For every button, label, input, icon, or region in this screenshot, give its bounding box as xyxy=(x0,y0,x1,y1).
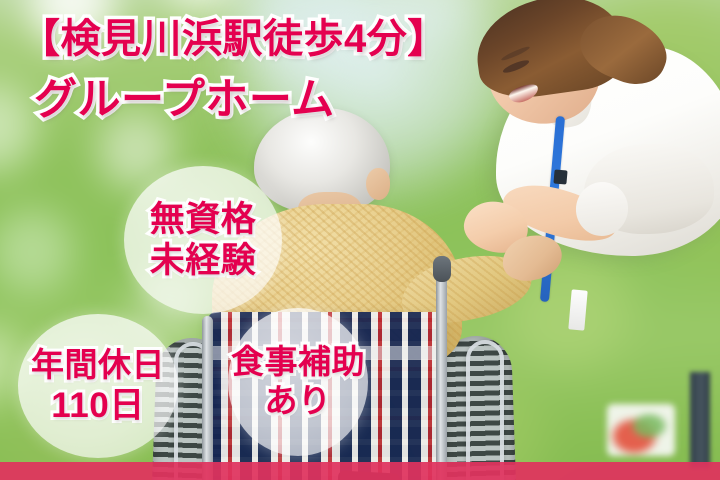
badge-qualification-line1: 無資格 xyxy=(150,199,257,240)
elderly-person-ear xyxy=(366,168,390,200)
headline-station-access: 【検見川浜駅徒歩4分】 xyxy=(20,18,448,60)
badge-annual-holidays: 年間休日 110日 xyxy=(18,314,178,458)
badge-holidays-line2: 110日 xyxy=(51,385,144,426)
badge-qualification: 無資格 未経験 xyxy=(124,166,282,314)
badge-qualification-line2: 未経験 xyxy=(150,240,257,281)
wheelchair-handrim-right xyxy=(466,340,504,480)
background-pole xyxy=(690,372,710,468)
wheelchair-frame-post-left xyxy=(202,316,213,480)
badge-meal-line2: あり xyxy=(265,382,332,421)
headline-facility-type: グループホーム xyxy=(34,78,448,124)
bottom-accent-band xyxy=(0,462,720,480)
wheelchair-frame-post-right xyxy=(436,268,447,480)
headline-block: 【検見川浜駅徒歩4分】 グループホーム xyxy=(20,18,448,124)
badge-meal-line1: 食事補助 xyxy=(231,343,365,382)
badge-meal-subsidy: 食事補助 あり xyxy=(228,308,368,456)
lanyard-clip-upper xyxy=(553,169,567,184)
wheelchair-push-handle xyxy=(433,256,451,282)
job-advertisement-banner: 【検見川浜駅徒歩4分】 グループホーム 無資格 未経験 年間休日 110日 食事… xyxy=(0,0,720,480)
background-sign xyxy=(607,404,675,456)
badge-holidays-line1: 年間休日 xyxy=(31,346,165,385)
